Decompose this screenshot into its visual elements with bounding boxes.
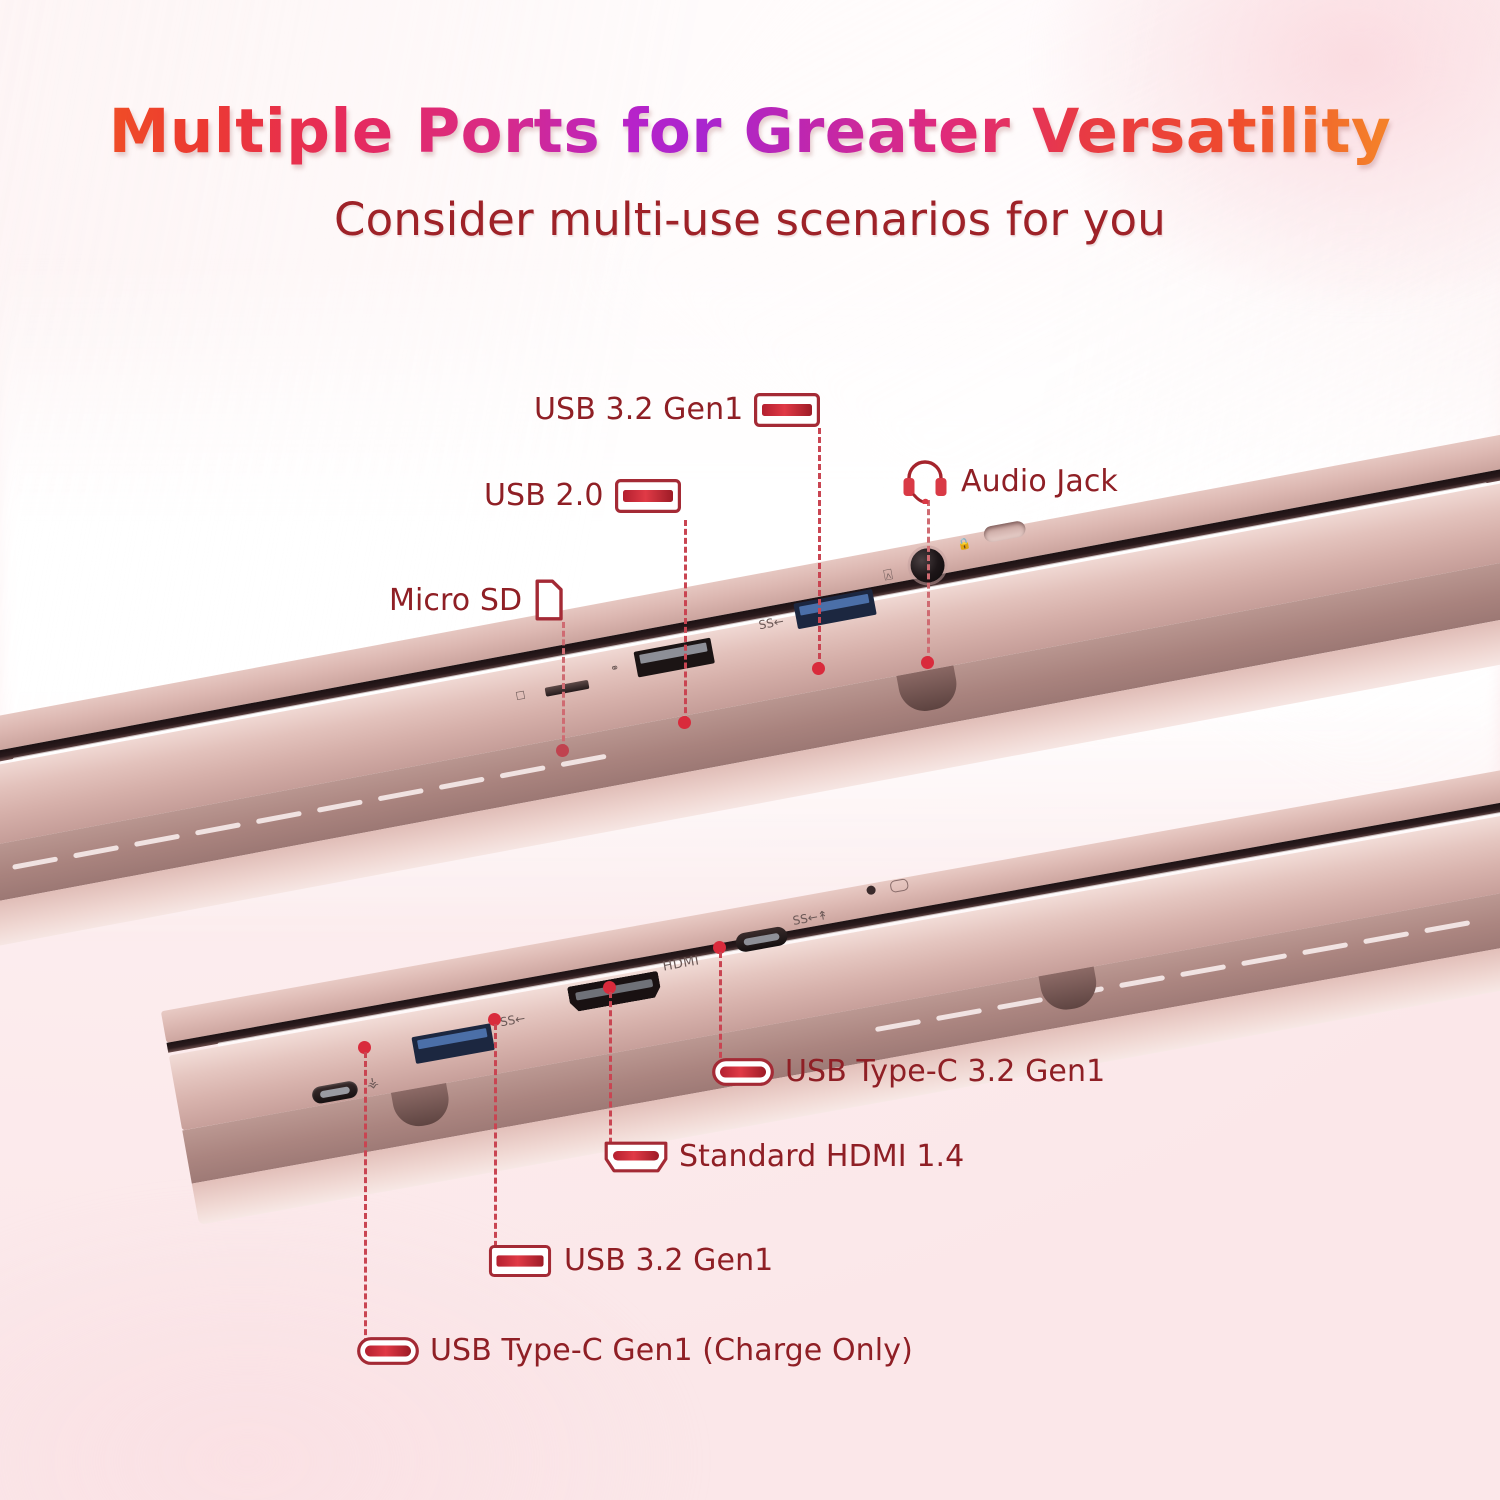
callout-label-usb-20: USB 2.0 — [484, 478, 604, 513]
page-title: Multiple Ports for Greater Versatility — [0, 96, 1500, 167]
callout-audio-jack[interactable]: Audio Jack — [900, 458, 1118, 504]
leader-line-usb-32-gen1 — [818, 428, 821, 668]
callout-micro-sd[interactable]: Micro SD — [389, 578, 565, 622]
power-plug-symbol: ⚶ — [366, 1074, 381, 1092]
callout-hdmi-14[interactable]: Standard HDMI 1.4 — [604, 1139, 964, 1174]
callout-label-micro-sd: Micro SD — [389, 583, 522, 618]
callout-usb-c-charge[interactable]: USB Type-C Gen1 (Charge Only) — [357, 1333, 913, 1368]
callout-usb-c-32-gen1[interactable]: USB Type-C 3.2 Gen1 — [712, 1054, 1105, 1089]
leader-dot-micro-sd — [556, 744, 569, 757]
leader-dot-usb-32-gen1 — [812, 662, 825, 675]
leader-line-usb-20 — [684, 520, 687, 722]
usb-c-icon — [712, 1058, 774, 1086]
laptop-bottom-left-side: ⚶ SS← HDMI SS←↟ — [180, 840, 1500, 1260]
microsd-slot-symbol: ☐ — [515, 689, 527, 704]
leader-line-usb-32-bottom — [494, 1024, 497, 1274]
callout-usb-32-gen1[interactable]: USB 3.2 Gen1 — [534, 392, 820, 427]
leader-line-audio-jack — [927, 500, 930, 662]
callout-label-usb-32-gen1: USB 3.2 Gen1 — [534, 392, 743, 427]
microsd-icon — [533, 578, 565, 622]
kensington-lock-symbol: 🔒 — [956, 536, 972, 551]
headset-icon — [900, 458, 950, 504]
usb-a-icon — [615, 479, 681, 513]
hdmi-icon — [604, 1141, 668, 1173]
callout-label-usb-c-32-gen1: USB Type-C 3.2 Gen1 — [785, 1054, 1105, 1089]
usb-c-icon — [357, 1337, 419, 1365]
callout-label-usb-32-gen1-bottom: USB 3.2 Gen1 — [564, 1243, 773, 1278]
product-feature-graphic: Multiple Ports for Greater Versatility C… — [0, 0, 1500, 1500]
usb-a-icon — [487, 1245, 553, 1277]
leader-line-micro-sd — [562, 622, 565, 750]
callout-usb-20[interactable]: USB 2.0 — [484, 478, 681, 513]
leader-dot-usb-20 — [678, 716, 691, 729]
leader-line-usb-c-charge — [364, 1052, 367, 1362]
callout-label-usb-c-charge: USB Type-C Gen1 (Charge Only) — [430, 1333, 913, 1368]
leader-dot-audio-jack — [921, 656, 934, 669]
callout-usb-32-gen1-bottom[interactable]: USB 3.2 Gen1 — [487, 1243, 773, 1278]
callout-label-hdmi-14: Standard HDMI 1.4 — [679, 1139, 964, 1174]
usb-a-icon — [754, 393, 820, 427]
page-subtitle: Consider multi-use scenarios for you — [0, 193, 1500, 246]
callout-label-audio-jack: Audio Jack — [961, 464, 1118, 499]
leader-line-hdmi — [609, 992, 612, 1162]
